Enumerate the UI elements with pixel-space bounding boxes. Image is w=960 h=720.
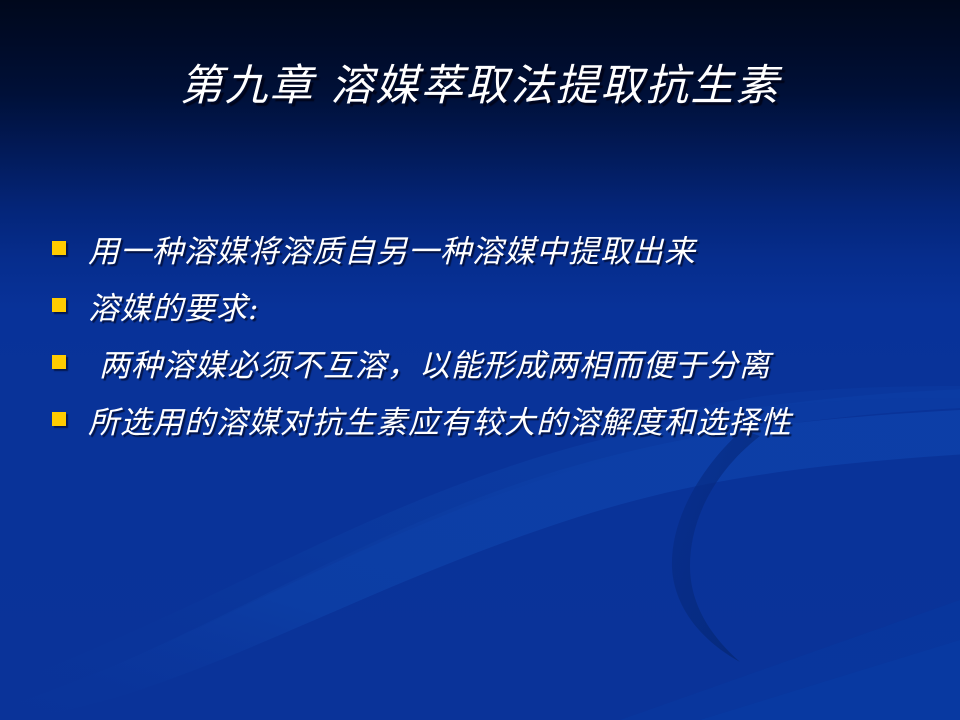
slide-title: 第九章 溶媒萃取法提取抗生素	[180, 62, 781, 111]
square-bullet-icon	[52, 298, 66, 312]
list-item: 用一种溶媒将溶质自另一种溶媒中提取出来	[52, 228, 932, 277]
square-bullet-icon	[52, 241, 66, 255]
square-bullet-icon	[52, 355, 66, 369]
slide-body-bullet-list: 用一种溶媒将溶质自另一种溶媒中提取出来 溶媒的要求: 两种溶媒必须不互溶，以能形…	[52, 228, 932, 456]
bullet-text: 两种溶媒必须不互溶，以能形成两相而便于分离	[88, 342, 932, 391]
square-bullet-icon	[52, 412, 66, 426]
list-item: 溶媒的要求:	[52, 285, 932, 334]
presentation-slide: 第九章 溶媒萃取法提取抗生素 用一种溶媒将溶质自另一种溶媒中提取出来 溶媒的要求…	[0, 0, 960, 720]
bullet-text: 溶媒的要求:	[88, 285, 932, 334]
list-item: 两种溶媒必须不互溶，以能形成两相而便于分离	[52, 342, 932, 391]
slide-title-container: 第九章 溶媒萃取法提取抗生素	[0, 62, 960, 111]
bullet-text: 用一种溶媒将溶质自另一种溶媒中提取出来	[88, 228, 932, 277]
list-item: 所选用的溶媒对抗生素应有较大的溶解度和选择性	[52, 399, 932, 448]
bullet-text: 所选用的溶媒对抗生素应有较大的溶解度和选择性	[88, 399, 932, 448]
